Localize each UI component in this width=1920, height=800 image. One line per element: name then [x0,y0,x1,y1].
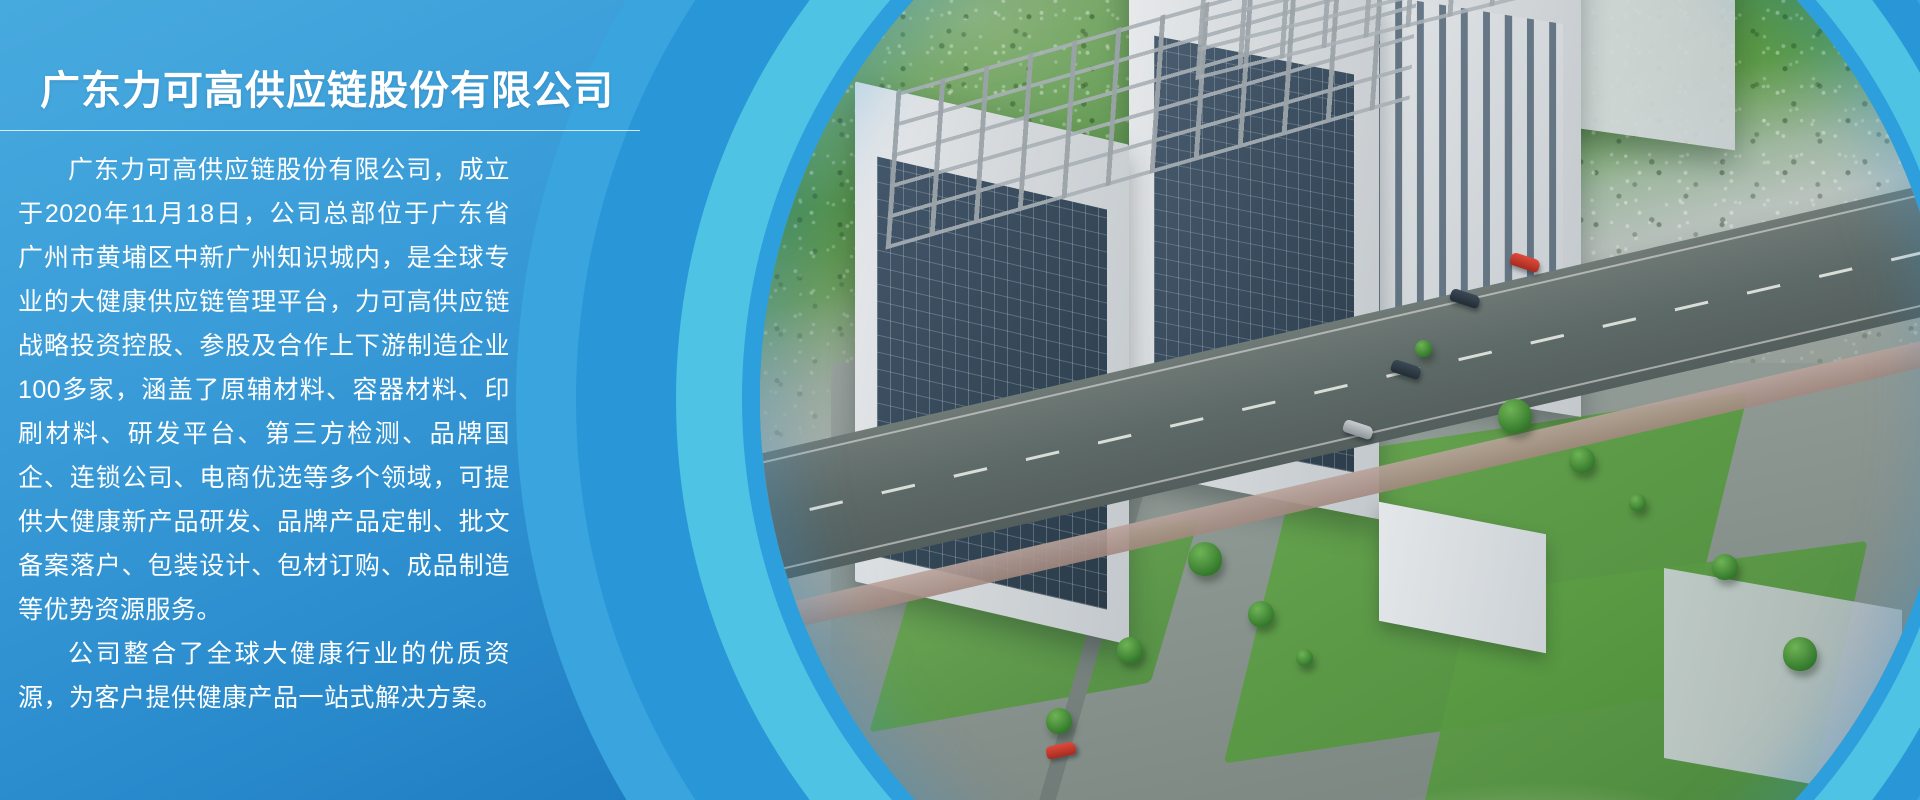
company-profile-banner: 广东力可高供应链股份有限公司 广东力可高供应链股份有限公司，成立于2020年11… [0,0,1920,800]
paragraph-2: 公司整合了全球大健康行业的优质资源，为客户提供健康产品一站式解决方案。 [18,632,510,720]
tree [1783,637,1817,671]
tree [1248,601,1274,627]
ground-mist [1260,780,1807,800]
text-column: 广东力可高供应链股份有限公司 广东力可高供应链股份有限公司，成立于2020年11… [0,0,640,800]
tree [1498,399,1532,433]
company-description: 广东力可高供应链股份有限公司，成立于2020年11月18日，公司总部位于广东省广… [18,148,510,720]
page-title: 广东力可高供应链股份有限公司 [40,58,614,116]
tree [1415,340,1432,357]
title-divider [0,130,640,131]
tree [1712,554,1738,580]
tree [1046,708,1072,734]
tree [1629,494,1646,511]
tree [1296,649,1313,666]
tree [1188,542,1222,576]
tree [1117,637,1143,663]
paragraph-1: 广东力可高供应链股份有限公司，成立于2020年11月18日，公司总部位于广东省广… [18,148,510,632]
facility-photo [760,0,1920,800]
tree [1569,447,1595,473]
